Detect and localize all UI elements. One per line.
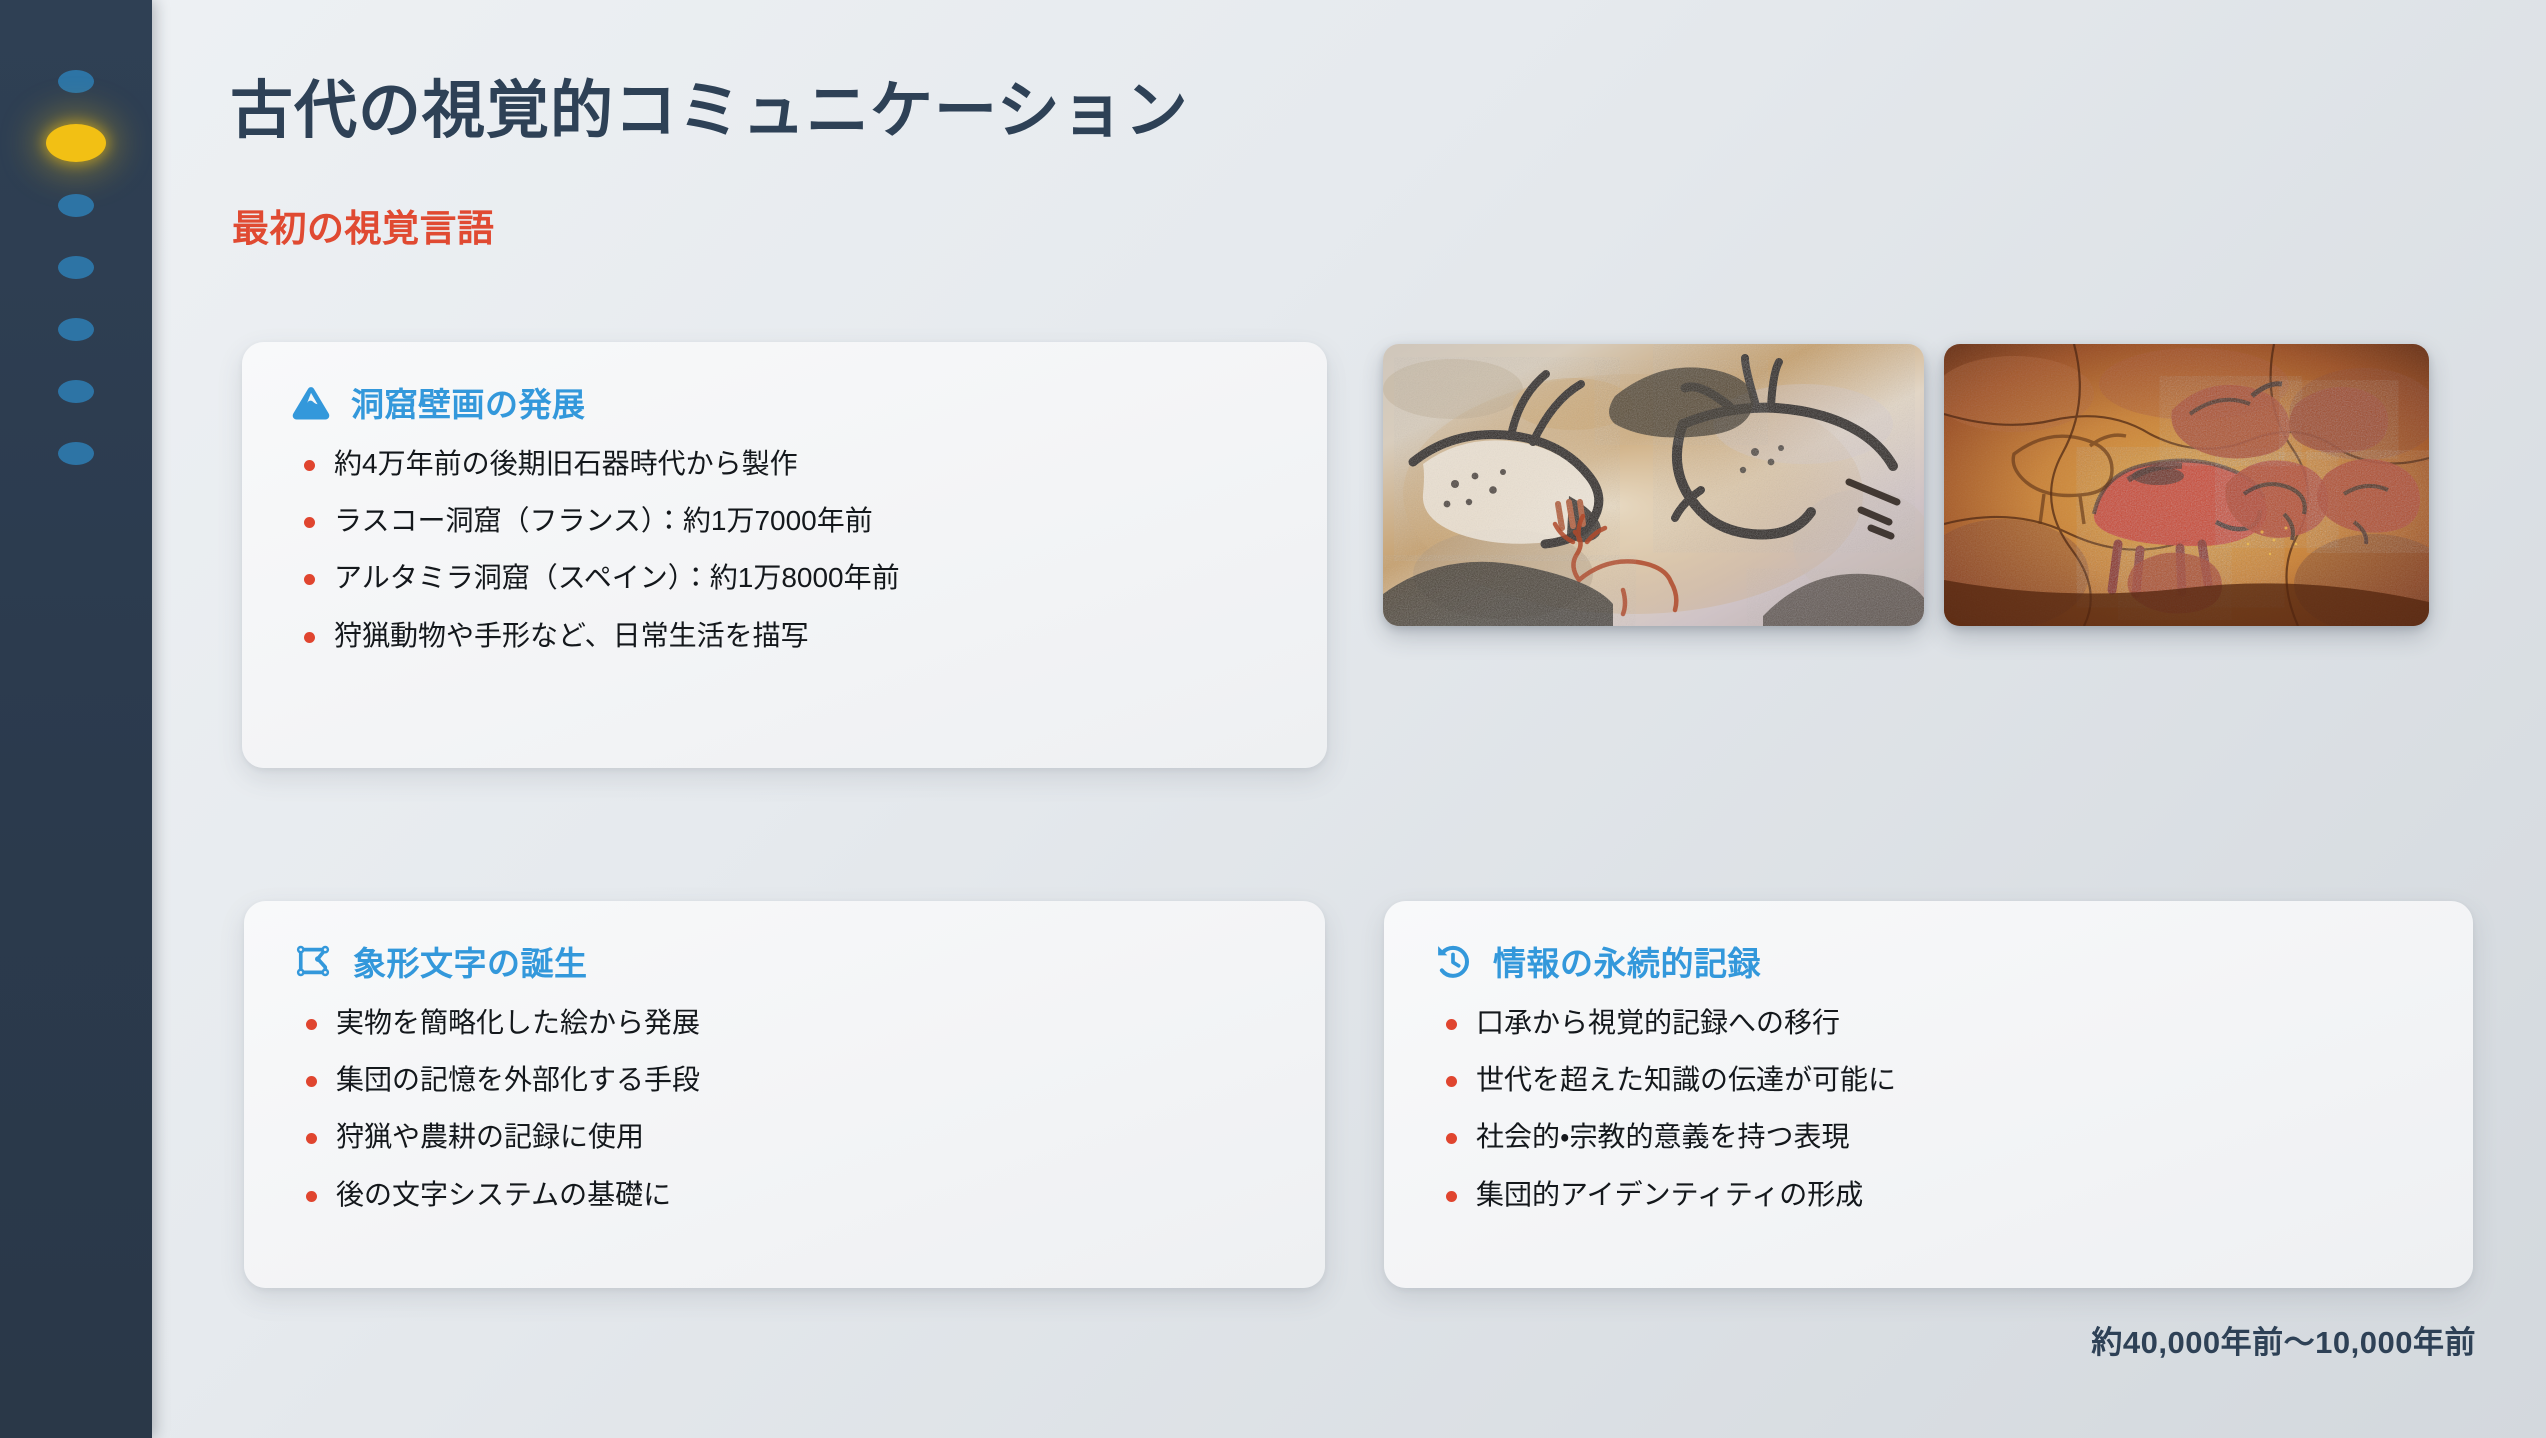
list-item: 社会的・宗教的意義を持つ表現 bbox=[1442, 1121, 2473, 1153]
rail-dot-list bbox=[0, 70, 152, 504]
rail-dot-4[interactable] bbox=[58, 256, 94, 279]
card-cave-title: 洞窟壁画の発展 bbox=[351, 378, 586, 426]
card-pictograph-birth: 象形文字の誕生 実物を簡略化した絵から発展 集団の記憶を外部化する手段 狩猟や農… bbox=[244, 901, 1325, 1288]
card-cave-header: 洞窟壁画の発展 bbox=[242, 342, 1327, 426]
vector-path-icon bbox=[292, 940, 334, 982]
page-title: 古代の視覚的コミュニケーション bbox=[230, 60, 1189, 151]
card-cave-paintings: 洞窟壁画の発展 約4万年前の後期旧石器時代から製作 ラスコー洞窟（フランス）：約… bbox=[242, 342, 1327, 768]
rail-dot-6[interactable] bbox=[58, 380, 94, 403]
list-item: 口承から視覚的記録への移行 bbox=[1442, 1007, 2473, 1039]
history-clock-icon bbox=[1432, 940, 1474, 982]
list-item: 後の文字システムの基礎に bbox=[302, 1179, 1325, 1211]
lascaux-cave-painting-photo bbox=[1383, 344, 1924, 626]
list-item: 狩猟や農耕の記録に使用 bbox=[302, 1121, 1325, 1153]
rail-dot-5[interactable] bbox=[58, 318, 94, 341]
rail-dot-2-active[interactable] bbox=[46, 124, 106, 162]
rail-dot-3[interactable] bbox=[58, 194, 94, 217]
card-record-header: 情報の永続的記録 bbox=[1384, 901, 2473, 985]
list-item: アルタミラ洞窟（スペイン）：約1万8000年前 bbox=[300, 562, 1327, 594]
list-item: 集団の記憶を外部化する手段 bbox=[302, 1064, 1325, 1096]
presentation-slide: 古代の視覚的コミュニケーション 最初の視覚言語 洞窟壁画の発展 約4万年前の後期… bbox=[0, 0, 2546, 1438]
timeline-note: 約40,000年前〜10,000年前 bbox=[2091, 1317, 2476, 1362]
card-record-bullet-list: 口承から視覚的記録への移行 世代を超えた知識の伝達が可能に 社会的・宗教的意義を… bbox=[1384, 985, 2473, 1211]
card-cave-bullet-list: 約4万年前の後期旧石器時代から製作 ラスコー洞窟（フランス）：約1万7000年前… bbox=[242, 426, 1327, 652]
card-pictograph-bullet-list: 実物を簡略化した絵から発展 集団の記憶を外部化する手段 狩猟や農耕の記録に使用 … bbox=[244, 985, 1325, 1211]
mountain-icon bbox=[290, 381, 332, 423]
list-item: 狩猟動物や手形など、日常生活を描写 bbox=[300, 620, 1327, 652]
page-subtitle: 最初の視覚言語 bbox=[232, 198, 495, 252]
card-pictograph-title: 象形文字の誕生 bbox=[353, 937, 588, 985]
altamira-cave-painting-photo bbox=[1944, 344, 2429, 626]
slide-content: 古代の視覚的コミュニケーション 最初の視覚言語 洞窟壁画の発展 約4万年前の後期… bbox=[152, 0, 2546, 1438]
list-item: ラスコー洞窟（フランス）：約1万7000年前 bbox=[300, 505, 1327, 537]
list-item: 約4万年前の後期旧石器時代から製作 bbox=[300, 448, 1327, 480]
card-record-title: 情報の永続的記録 bbox=[1493, 937, 1761, 985]
card-pictograph-header: 象形文字の誕生 bbox=[244, 901, 1325, 985]
list-item: 集団的アイデンティティの形成 bbox=[1442, 1179, 2473, 1211]
list-item: 実物を簡略化した絵から発展 bbox=[302, 1007, 1325, 1039]
rail-dot-1[interactable] bbox=[58, 70, 94, 93]
card-permanent-record: 情報の永続的記録 口承から視覚的記録への移行 世代を超えた知識の伝達が可能に 社… bbox=[1384, 901, 2473, 1288]
slide-progress-rail bbox=[0, 0, 152, 1438]
rail-dot-7[interactable] bbox=[58, 442, 94, 465]
list-item: 世代を超えた知識の伝達が可能に bbox=[1442, 1064, 2473, 1096]
